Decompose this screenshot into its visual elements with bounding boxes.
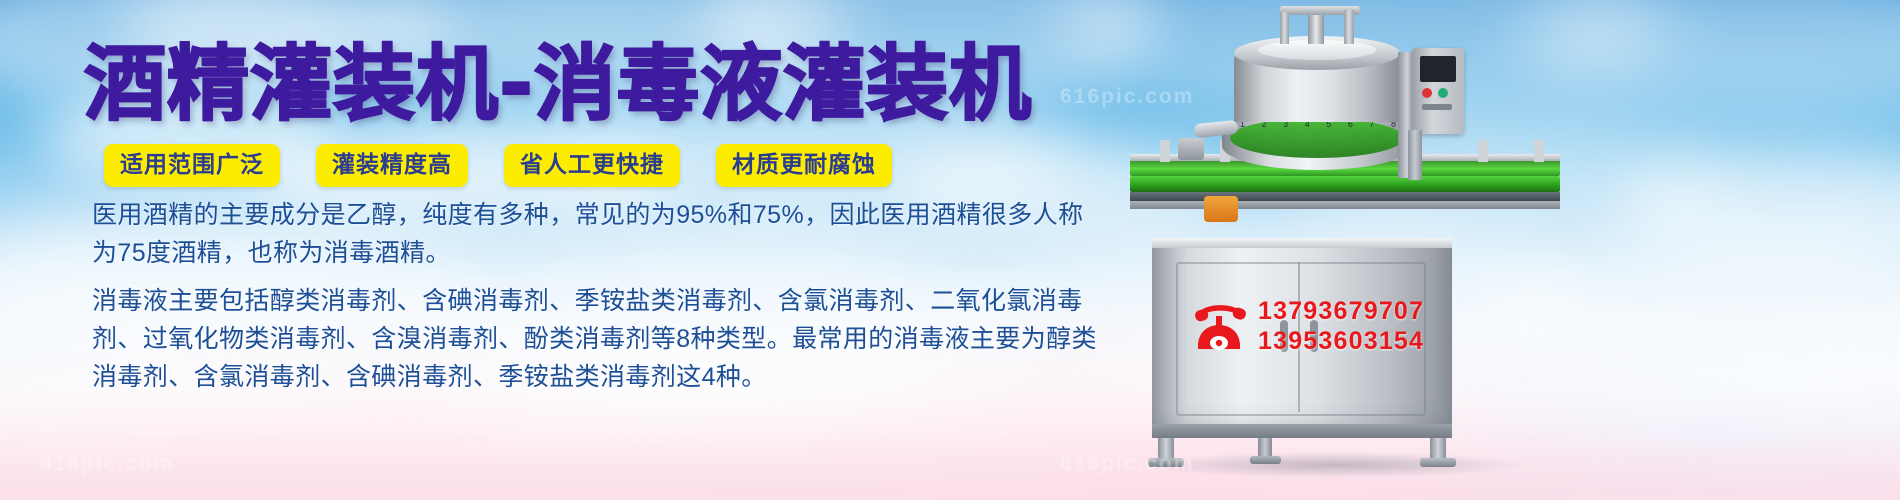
promo-banner: 12345678 酒精灌装机-消毒液灌装机 适用范围广泛 灌装精度高 省人工更快… — [0, 0, 1900, 500]
feature-tag-2: 灌装精度高 — [316, 144, 468, 187]
telephone-icon — [1192, 300, 1248, 352]
phone-number-2: 13953603154 — [1258, 326, 1424, 356]
feature-tag-list: 适用范围广泛 灌装精度高 省人工更快捷 材质更耐腐蚀 — [104, 144, 928, 187]
watermark-1: 616pic.com — [40, 452, 174, 476]
contact-phone-block: 13793679707 13953603154 — [1192, 296, 1424, 356]
paragraph-alcohol: 医用酒精的主要成分是乙醇，纯度有多种，常见的为95%和75%，因此医用酒精很多人… — [92, 196, 1102, 272]
phone-number-1: 13793679707 — [1258, 296, 1424, 326]
phone-number-list: 13793679707 13953603154 — [1258, 296, 1424, 356]
product-photo-filling-machine: 12345678 — [1130, 0, 1560, 500]
description-copy: 医用酒精的主要成分是乙醇，纯度有多种，常见的为95%和75%，因此医用酒精很多人… — [92, 196, 1102, 402]
feature-tag-1: 适用范围广泛 — [104, 144, 280, 187]
paragraph-disinfectant: 消毒液主要包括醇类消毒剂、含碘消毒剂、季铵盐类消毒剂、含氯消毒剂、二氧化氯消毒剂… — [92, 282, 1102, 396]
feature-tag-4: 材质更耐腐蚀 — [716, 144, 892, 187]
feature-tag-3: 省人工更快捷 — [504, 144, 680, 187]
page-title: 酒精灌装机-消毒液灌装机 — [84, 38, 1032, 132]
